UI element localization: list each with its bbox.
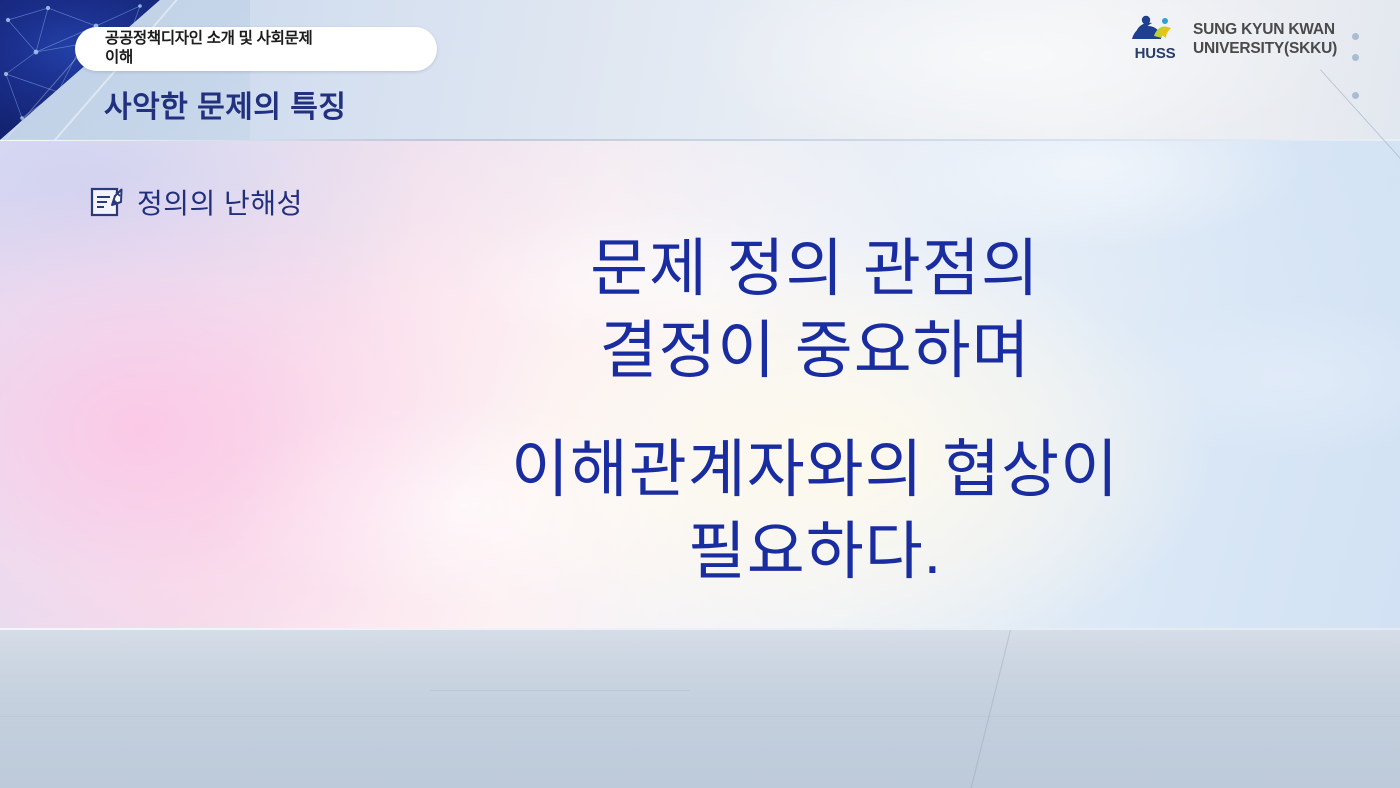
huss-logo-mark: HUSS — [1128, 14, 1182, 62]
memo-pencil-icon — [90, 186, 124, 218]
body-paragraph-2: 이해관계자와의 협상이 필요하다. — [300, 429, 1330, 593]
section-label: 정의의 난해성 — [137, 182, 303, 222]
ground-seam-horizontal-lower — [0, 716, 1400, 717]
section-heading: 정의의 난해성 — [90, 182, 303, 222]
background-ground-plane — [0, 628, 1400, 788]
horizon-line — [0, 628, 1400, 630]
skku-huss-logo: HUSS SUNG KYUN KWAN UNIVERSITY(SKKU) — [1128, 14, 1337, 62]
header-dot-2-icon — [1352, 54, 1359, 61]
body-paragraph-1: 문제 정의 관점의 결정이 중요하며 — [300, 228, 1330, 392]
presentation-slide: 공공정책디자인 소개 및 사회문제 이해 사악한 문제의 특징 HUSS SUN… — [0, 0, 1400, 788]
breadcrumb-label: 공공정책디자인 소개 및 사회문제 이해 — [105, 29, 445, 67]
header-dot-1-icon — [1352, 33, 1359, 40]
page-title: 사악한 문제의 특징 — [104, 82, 346, 126]
university-name: SUNG KYUN KWAN UNIVERSITY(SKKU) — [1193, 18, 1337, 58]
huss-wordmark: HUSS — [1128, 45, 1182, 62]
ground-seam-horizontal-upper — [430, 690, 690, 691]
huss-emblem-icon — [1128, 14, 1182, 48]
header-dot-3-icon — [1352, 92, 1359, 99]
slide-body: 문제 정의 관점의 결정이 중요하며 이해관계자와의 협상이 필요하다. — [300, 228, 1330, 593]
